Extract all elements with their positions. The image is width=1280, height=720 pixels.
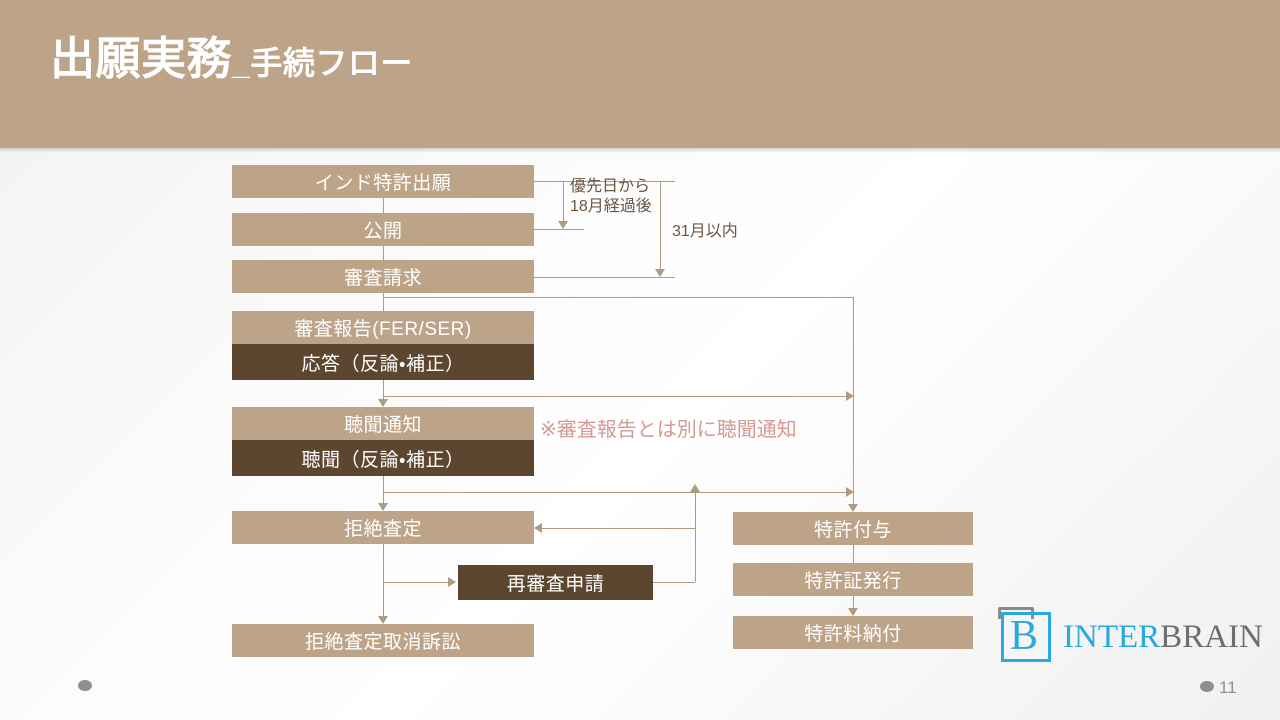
annotation-priority-period-line1: 優先日から [570, 177, 652, 197]
flow-box-exam-report[interactable]: 審査報告(FER/SER) [232, 311, 534, 344]
logo-letter-b: B [1010, 615, 1038, 657]
flow-box-label: インド特許出願 [315, 168, 452, 195]
arrow-down-18month-icon [558, 221, 568, 229]
flow-box-label: 公開 [363, 216, 402, 243]
connector-application-publication [383, 198, 384, 213]
flow-box-refusal[interactable]: 拒絶査定 [232, 511, 534, 544]
page-title: 出願実務_手続フロー [50, 36, 413, 81]
flow-box-patent-grant[interactable]: 特許付与 [733, 512, 973, 545]
arrow-right-trunk-response-icon [846, 391, 854, 401]
page-title-sub: _手続フロー [232, 45, 413, 81]
arrow-down-hearing-notice-icon [378, 399, 388, 407]
flow-box-application[interactable]: インド特許出願 [232, 165, 534, 198]
connector-examrequest-to-trunk [383, 297, 853, 298]
connector-reviewrequest-out [653, 582, 695, 583]
connector-publication-examrequest [383, 246, 384, 260]
flow-box-label: 審査報告(FER/SER) [294, 314, 472, 341]
connector-grant-trunk [853, 297, 854, 505]
arrow-left-refusal-icon [534, 523, 542, 533]
connector-reviewrequest-to-refusal [542, 528, 695, 529]
arrow-up-reviewrequest-icon [690, 484, 700, 492]
page-number: 11 [1219, 678, 1237, 698]
flow-box-response[interactable]: 応答（反論・補正） [232, 344, 534, 380]
flow-box-label: 特許付与 [814, 515, 892, 542]
arrow-right-trunk-hearing-icon [846, 487, 854, 497]
note-hearing-separate: ※審査報告とは別に聴聞通知 [540, 413, 797, 442]
arrow-down-patent-fee-icon [848, 608, 858, 616]
connector-certificate-fee [853, 596, 854, 608]
flow-box-patent-fee[interactable]: 特許料納付 [733, 616, 973, 649]
flow-box-label: 聴聞（反論・補正） [302, 445, 465, 472]
interbrain-logo: B INTERBRAIN [997, 604, 1267, 666]
flow-box-label: 特許証発行 [804, 566, 902, 593]
connector-refusal-lawsuit [383, 544, 384, 616]
logo-wordmark-rain: RAIN [1182, 619, 1263, 655]
bracket-31month-line [660, 181, 661, 271]
flow-box-hearing-notice[interactable]: 聴聞通知 [232, 407, 534, 440]
connector-response-to-trunk [383, 396, 848, 397]
arrow-down-lawsuit-icon [378, 616, 388, 624]
flow-box-hearing[interactable]: 聴聞（反論・補正） [232, 440, 534, 476]
flow-box-refusal-lawsuit[interactable]: 拒絶査定取消訴訟 [232, 624, 534, 657]
bracket-publication-tick [534, 229, 584, 230]
footer-dot-right-icon [1200, 681, 1214, 692]
page-title-main: 出願実務 [50, 33, 232, 84]
flow-box-label: 聴聞通知 [344, 410, 422, 437]
arrow-right-review-request-icon [448, 577, 456, 587]
flow-box-label: 応答（反論・補正） [302, 349, 465, 376]
arrow-down-31month-icon [655, 269, 665, 277]
connector-examrequest-examreport [383, 293, 384, 303]
annotation-within-31-months: 31月以内 [672, 222, 738, 242]
logo-wordmark-nter: NTER [1074, 619, 1160, 655]
connector-examrequest-examreport-2 [383, 303, 384, 311]
connector-hearing-refusal [383, 476, 384, 503]
logo-wordmark-i: I [1063, 619, 1074, 655]
flow-box-review-request[interactable]: 再審査申請 [458, 565, 653, 600]
flow-box-label: 再審査申請 [507, 569, 605, 596]
header-shadow [0, 148, 1280, 153]
flow-box-label: 拒絶査定取消訴訟 [305, 627, 461, 654]
flow-box-label: 特許料納付 [804, 619, 902, 646]
bracket-examrequest-tick [534, 277, 675, 278]
flow-box-label: 審査請求 [344, 263, 422, 290]
flow-box-exam-request[interactable]: 審査請求 [232, 260, 534, 293]
annotation-priority-period: 優先日から 18月経過後 [570, 177, 652, 217]
flow-box-patent-certificate[interactable]: 特許証発行 [733, 563, 973, 596]
annotation-priority-period-line2: 18月経過後 [570, 197, 652, 217]
arrow-down-refusal-icon [378, 503, 388, 511]
logo-wordmark-b: B [1160, 619, 1182, 655]
connector-grant-certificate [853, 545, 854, 563]
flow-box-publication[interactable]: 公開 [232, 213, 534, 246]
arrow-down-patent-grant-icon [848, 504, 858, 512]
connector-refusal-reviewrequest [383, 582, 448, 583]
connector-reviewrequest-riser [695, 492, 696, 582]
connector-hearing-to-trunk [383, 492, 848, 493]
slide-canvas: 出願実務_手続フロー インド特許出願 公開 審査請求 審査報告(FER/SER)… [0, 0, 1280, 720]
footer-dot-left-icon [78, 680, 92, 691]
logo-wordmark: INTERBRAIN [1063, 621, 1263, 654]
flow-box-label: 拒絶査定 [344, 514, 422, 541]
bracket-18month-line [563, 181, 564, 223]
